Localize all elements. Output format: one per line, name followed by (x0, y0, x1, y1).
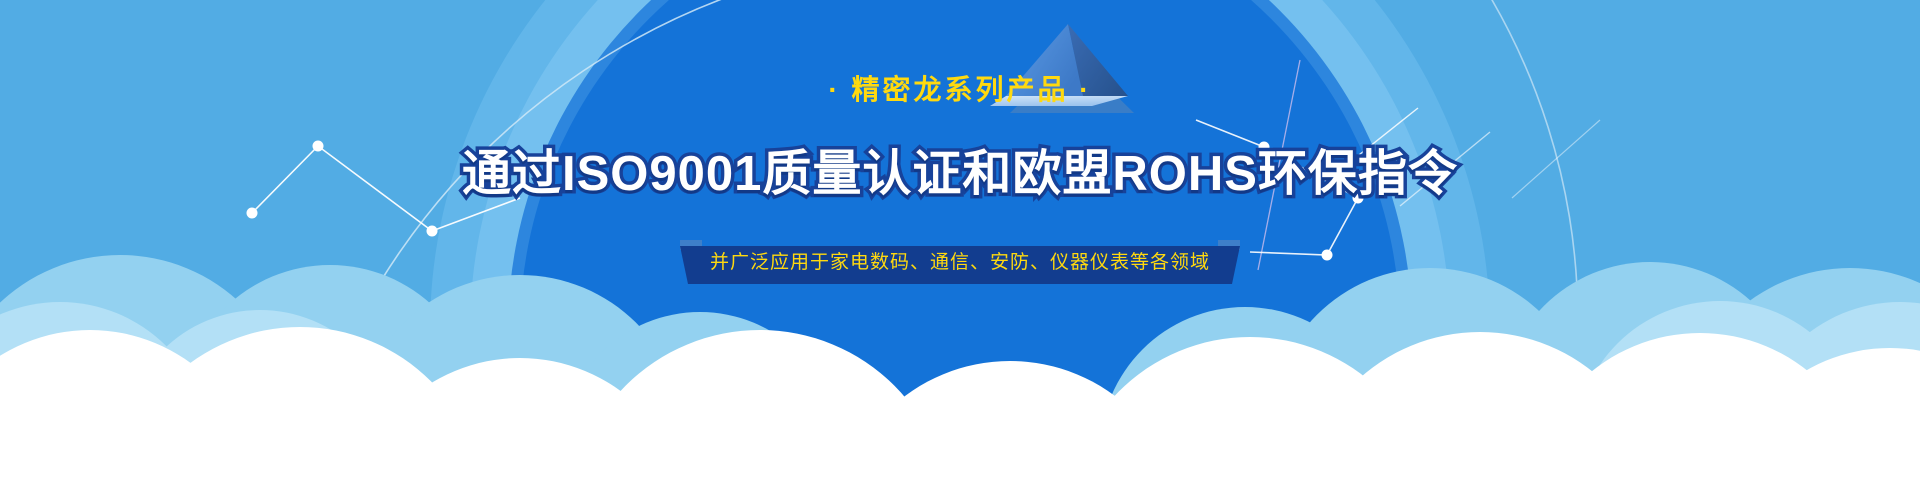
constellation-node (247, 208, 258, 219)
constellation-node (313, 141, 324, 152)
constellation-node (427, 226, 438, 237)
constellation-node (1259, 142, 1270, 153)
promo-banner: · 精密龙系列产品 · 通过ISO9001质量认证和欧盟ROHS环保指令 并广泛… (0, 0, 1920, 480)
banner-background-art (0, 0, 1920, 480)
constellation-node (1353, 193, 1364, 204)
constellation-node (1322, 250, 1333, 261)
